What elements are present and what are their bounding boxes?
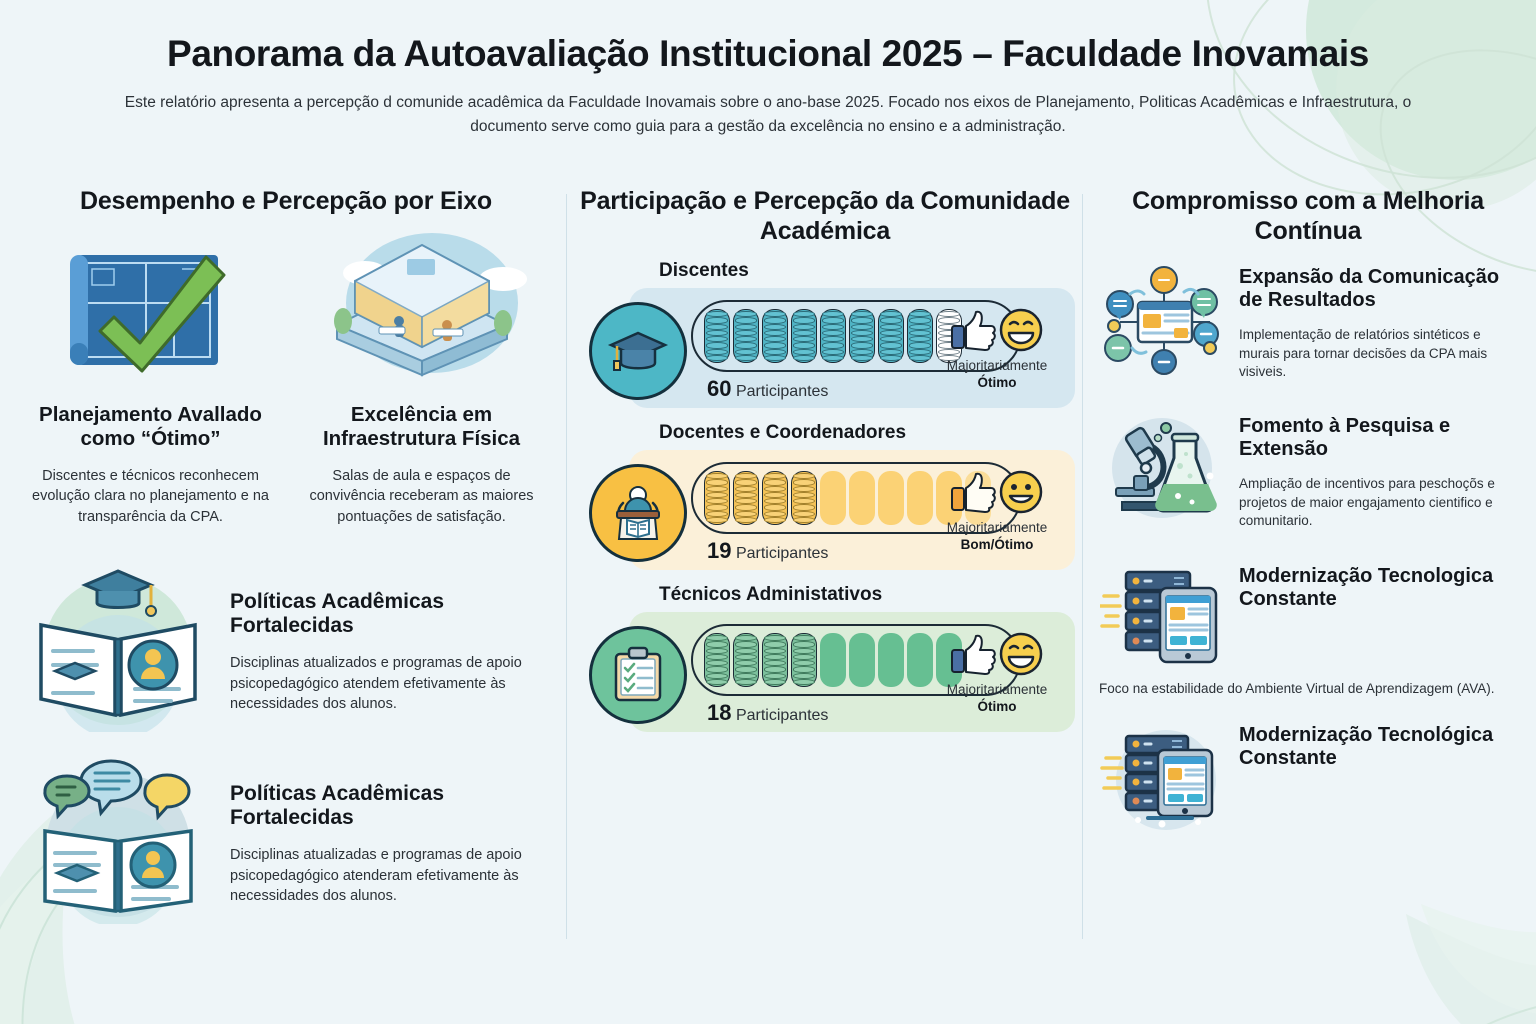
count-unit: Participantes — [736, 707, 829, 724]
right-column: Compromisso com a Melhoria Contínua — [1093, 186, 1523, 976]
count-unit: Participantes — [736, 545, 829, 562]
left-row-text: Políticas Acadêmicas Fortalecidas Discip… — [230, 756, 552, 921]
coin-stack — [733, 309, 759, 363]
infographic-page: Panorama da Autoavaliação Institucional … — [0, 0, 1536, 1024]
mood-value: Bom/Ótimo — [961, 537, 1034, 552]
graduation-cap-icon — [589, 302, 687, 400]
card-heading: Planejamento Avallado como “Ótimo” — [22, 403, 279, 451]
plain-bar — [878, 633, 904, 687]
group-card: 19 Participantes — [629, 450, 1075, 570]
mood-text: Majoritariamente Ótimo — [927, 358, 1067, 392]
item-heading: Modernização Tecnológica Constante — [1239, 724, 1517, 770]
coin-stack — [762, 633, 788, 687]
coin-stack — [878, 309, 904, 363]
coin-stack — [849, 309, 875, 363]
card-heading: Excelência em Infraestrutura Física — [293, 403, 550, 451]
coin-stack — [791, 471, 817, 525]
mood-prefix: Majoritariamente — [947, 520, 1048, 535]
mood-icons — [927, 628, 1067, 680]
card-planejamento: Planejamento Avallado como “Ótimo” Disce… — [22, 226, 279, 542]
clipboard-checklist-icon — [589, 626, 687, 724]
mood-text: Majoritariamente Bom/Ótimo — [927, 520, 1067, 554]
row-body: Disciplinas atualizadas e programas de a… — [230, 845, 552, 907]
plain-bar — [820, 471, 846, 525]
left-column: Desempenho e Percepção por Eixo — [8, 186, 564, 976]
count-value: 18 — [707, 700, 731, 725]
count-unit: Participantes — [736, 383, 829, 400]
campus-building-icon — [293, 226, 550, 401]
middle-column: Participação e Percepção da Comunidade A… — [575, 186, 1075, 976]
left-row-politicas-1: Políticas Acadêmicas Fortalecidas Discip… — [8, 564, 564, 734]
item-body-modernizacao-1: Foco na estabilidade do Ambiente Virtual… — [1099, 680, 1517, 699]
right-item-text: Expansão da Comunicação de Resultados Im… — [1239, 262, 1517, 395]
mood-text: Majoritariamente Ótimo — [927, 682, 1067, 716]
mood-value: Ótimo — [978, 375, 1017, 390]
row-heading: Políticas Acadêmicas Fortalecidas — [230, 782, 552, 831]
mood-value: Ótimo — [978, 699, 1017, 714]
open-book-graduation-icon — [20, 564, 216, 734]
left-top-cards: Planejamento Avallado como “Ótimo” Disce… — [8, 226, 564, 542]
right-item-comunicacao: Expansão da Comunicação de Resultados Im… — [1093, 262, 1523, 395]
participation-group-docentes: Docentes e Coordenadores — [575, 422, 1075, 570]
right-column-title: Compromisso com a Melhoria Contínua — [1093, 186, 1523, 246]
coin-stack — [762, 471, 788, 525]
smiley-face-icon — [998, 469, 1044, 515]
blueprint-check-icon — [22, 226, 279, 401]
group-card: 60 Participantes — [629, 288, 1075, 408]
plain-bar — [878, 471, 904, 525]
left-row-politicas-2: Políticas Acadêmicas Fortalecidas Discip… — [8, 756, 564, 926]
item-body: Implementação de relatórios sintéticos e… — [1239, 326, 1517, 382]
item-heading: Modernização Tecnologica Constante — [1239, 565, 1517, 611]
coin-stack — [791, 309, 817, 363]
item-heading: Expansão da Comunicação de Resultados — [1239, 266, 1517, 312]
card-infraestrutura: Excelência em Infraestrutura Física Sala… — [293, 226, 550, 542]
thumbs-up-icon — [950, 632, 996, 676]
right-item-modernizacao-2: Modernização Tecnológica Constante — [1093, 720, 1523, 835]
mood-prefix: Majoritariamente — [947, 358, 1048, 373]
card-body: Salas de aula e espaços de convivência r… — [293, 466, 550, 528]
page-subtitle: Este relatório apresenta a percepção d c… — [123, 91, 1413, 139]
mood-icons — [927, 466, 1067, 518]
column-divider-left — [566, 194, 567, 939]
page-header: Panorama da Autoavaliação Institucional … — [0, 34, 1536, 139]
thumbs-up-icon — [950, 470, 996, 514]
row-body: Disciplinas atualizados e programas de a… — [230, 653, 552, 715]
middle-column-title: Participação e Percepção da Comunidade A… — [575, 186, 1075, 246]
row-heading: Políticas Acadêmicas Fortalecidas — [230, 590, 552, 639]
right-item-pesquisa: Fomento à Pesquisa e Extensão Ampliação … — [1093, 411, 1523, 544]
server-tablet-icon — [1099, 720, 1229, 835]
coin-stack — [704, 309, 730, 363]
participant-count: 18 Participantes — [707, 700, 828, 726]
lecturer-podium-icon — [589, 464, 687, 562]
column-divider-right — [1082, 194, 1083, 939]
columns-area: Desempenho e Percepção por Eixo — [0, 186, 1536, 976]
right-item-text: Modernização Tecnologica Constante — [1239, 561, 1517, 617]
group-label: Técnicos Administativos — [659, 584, 1075, 606]
microscope-flask-icon — [1099, 411, 1229, 526]
mood-block: Majoritariamente Ótimo — [927, 304, 1067, 392]
coin-stack — [733, 633, 759, 687]
smiley-face-icon — [998, 631, 1044, 677]
participation-group-tecnicos: Técnicos Administativos — [575, 584, 1075, 732]
left-row-text: Políticas Acadêmicas Fortalecidas Discip… — [230, 564, 552, 729]
coin-stack — [704, 471, 730, 525]
plain-bar — [849, 471, 875, 525]
server-tablet-icon — [1099, 561, 1229, 676]
item-body: Ampliação de incentivos para peschoçõs e… — [1239, 475, 1517, 531]
right-item-text: Modernização Tecnológica Constante — [1239, 720, 1517, 776]
right-item-modernizacao-1: Modernização Tecnologica Constante — [1093, 561, 1523, 676]
count-value: 19 — [707, 538, 731, 563]
group-label: Docentes e Coordenadores — [659, 422, 1075, 444]
mood-block: Majoritariamente Ótimo — [927, 628, 1067, 716]
participant-count: 19 Participantes — [707, 538, 828, 564]
item-heading: Fomento à Pesquisa e Extensão — [1239, 415, 1517, 461]
mood-prefix: Majoritariamente — [947, 682, 1048, 697]
group-card: 18 Participantes — [629, 612, 1075, 732]
thumbs-up-icon — [950, 308, 996, 352]
coin-stack — [733, 471, 759, 525]
coin-stack — [820, 309, 846, 363]
group-label: Discentes — [659, 260, 1075, 282]
participation-group-discentes: Discentes — [575, 260, 1075, 408]
participant-count: 60 Participantes — [707, 376, 828, 402]
mood-icons — [927, 304, 1067, 356]
card-body: Discentes e técnicos reconhecem evolução… — [22, 466, 279, 528]
plain-bar — [849, 633, 875, 687]
coin-stack — [704, 633, 730, 687]
smiley-face-icon — [998, 307, 1044, 353]
speech-bubbles-book-icon — [20, 756, 216, 926]
coin-stack — [762, 309, 788, 363]
left-column-title: Desempenho e Percepção por Eixo — [8, 186, 564, 216]
right-item-text: Fomento à Pesquisa e Extensão Ampliação … — [1239, 411, 1517, 544]
mood-block: Majoritariamente Bom/Ótimo — [927, 466, 1067, 554]
network-communication-icon — [1099, 262, 1229, 377]
coin-stack — [791, 633, 817, 687]
plain-bar — [820, 633, 846, 687]
count-value: 60 — [707, 376, 731, 401]
page-title: Panorama da Autoavaliação Institucional … — [70, 34, 1466, 75]
